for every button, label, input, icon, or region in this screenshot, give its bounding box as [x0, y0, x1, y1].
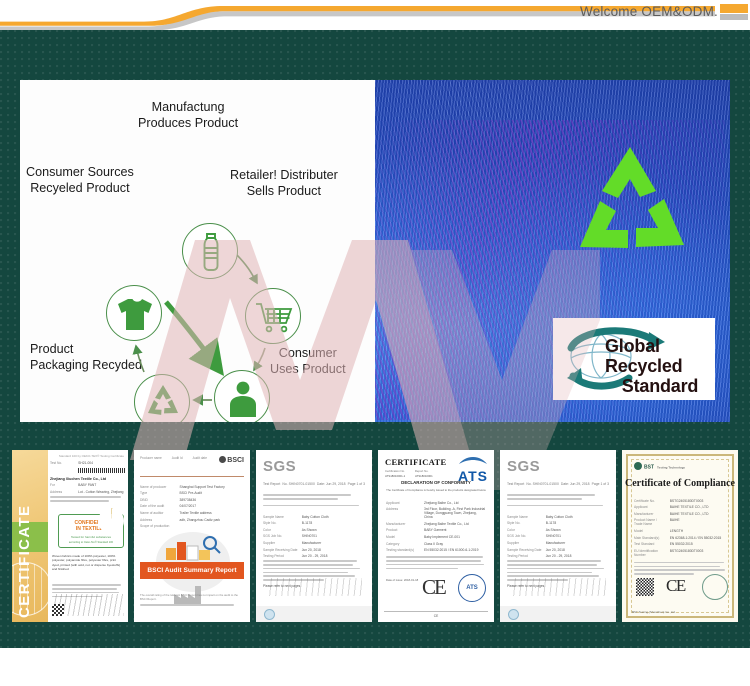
field-value: SH21-004: [78, 461, 124, 465]
ce-mark-icon: CE: [666, 576, 685, 596]
field-value: BSTG2405180DT0003: [670, 499, 728, 503]
field-value: Manufacturer: [302, 541, 365, 545]
field-key: Address: [386, 507, 420, 519]
header-corner-block: [720, 4, 748, 20]
bst-logo-dot: [634, 462, 642, 470]
report-date: Date: Jun 29, 2018: [317, 482, 346, 486]
page-root: Welcome OEM&ODM. Manufactung Produces Pr…: [0, 0, 750, 686]
corner-gray-bar: [720, 14, 748, 20]
sgs-stamp-icon: [508, 609, 519, 620]
field-value: Manufacturer: [546, 541, 609, 545]
sgs-brand-logo: SGS: [263, 458, 296, 475]
report-date: Date: Jun 29, 2018: [561, 482, 590, 486]
bottle-icon: [183, 224, 239, 280]
tshirt-icon: [107, 286, 163, 342]
field-key: Address: [50, 490, 75, 494]
grs-logo: Global Recycled Standard: [553, 318, 715, 400]
field-key: Scope of production: [140, 524, 175, 528]
certificates-row: CERTIFICATE Standard 100 by OEKO-TEX® Te…: [12, 450, 738, 622]
cert-company: Zhejiang Xiuchen Textile Co., Ltd: [50, 477, 124, 481]
sgs-intro: [507, 492, 609, 508]
page-number: Page 1 of 3: [592, 482, 609, 486]
ce-mark-icon: CE: [422, 575, 445, 600]
field-key: DBID: [140, 498, 175, 502]
field-key: EU Identification Number: [634, 549, 666, 557]
field-value: BSTG2405180DT0003: [670, 549, 728, 557]
field-value: BABY Garment: [424, 528, 486, 532]
grs-logo-text: Global Recycled Standard: [605, 336, 715, 396]
field-key: Sample Receiving Date: [507, 548, 542, 552]
bst-brand-text: BST: [644, 465, 654, 471]
bsci-brand-text: BSCI: [227, 457, 244, 464]
field-key: Manufacturer: [386, 522, 420, 526]
report-number: No. SHIN0701-01500: [526, 482, 558, 486]
bsci-banner: BSCI Audit Summary Report: [140, 562, 244, 579]
field-value: Baby Cotton Cloth: [546, 515, 609, 519]
sgs-intro: [263, 492, 365, 508]
footer-text: The overall rating of the relevant BSCI …: [140, 593, 244, 601]
field-key: Model: [386, 535, 420, 539]
field-value: BABY PANT: [78, 483, 124, 487]
field-key: Sample Receiving Date: [263, 548, 298, 552]
field-value: [180, 524, 244, 528]
field-key: Date of the audit: [140, 504, 175, 508]
field-value: As Shown: [546, 528, 609, 532]
recycling-cycle-diagram: Manufactung Produces Product Consumer So…: [20, 80, 375, 422]
field-value: Zhejiang Baihe Co., Ltd: [424, 501, 486, 505]
field-value: BAIHE: [670, 518, 728, 526]
field-value: EN 62368-1:2014 / EN 55032:2015: [670, 536, 728, 540]
certificate-sgs-1[interactable]: SGS Test Report No. SHIN0701-01500 Date:…: [256, 450, 372, 622]
field-key: Supplier: [507, 541, 542, 545]
sunburst-decoration-icon: [98, 508, 124, 534]
signature-block: [510, 578, 606, 596]
certificate-ats[interactable]: CERTIFICATE Certification No.Report No. …: [378, 450, 494, 622]
field-key: Model: [634, 529, 666, 533]
certificate-oeko-tex[interactable]: CERTIFICATE Standard 100 by OEKO-TEX® Te…: [12, 450, 128, 622]
field-value: Jun 20, 2018: [546, 548, 609, 552]
sgs-fields: Sample NameBaby Cotton Cloth Style No.B-…: [507, 512, 609, 561]
field-value: BSCI Pre-Audit: [180, 491, 244, 495]
doc-type: Test Report: [263, 482, 280, 486]
field-value: Baby Cotton Cloth: [302, 515, 365, 519]
cert-body: Standard 100 by OEKO-TEX® Testing Certif…: [50, 454, 124, 504]
node-cart: [245, 288, 301, 344]
audit-illustration-icon: [164, 534, 222, 564]
certificate-bst-compliance[interactable]: BST Testing Technology Certificate of Co…: [622, 450, 738, 622]
node-person: [214, 370, 270, 422]
field-key: Style No.: [507, 521, 542, 525]
sgs-report-meta: Test Report No. SHIN0701-01500 Date: Jun…: [507, 482, 609, 486]
field-value: 04/07/2017: [180, 504, 244, 508]
recycle-icon: [135, 375, 191, 422]
ats-subtitle: The Certificate of Compliance is hereby …: [386, 488, 486, 492]
field-key: Applicant: [634, 505, 666, 509]
node-recycle: [134, 374, 190, 422]
field-key: Type: [140, 491, 175, 495]
corner-orange-bar: [720, 4, 748, 13]
doc-type: Test Report: [507, 482, 524, 486]
fabric-photo-panel: Global Recycled Standard: [375, 80, 730, 422]
recycle-symbol-icon: [560, 135, 700, 275]
field-key: Name of producer: [140, 485, 175, 489]
shopping-cart-icon: [246, 289, 302, 345]
field-value: EN 55032:2015: [670, 542, 728, 546]
field-key: Supplier: [263, 541, 298, 545]
page-header: Welcome OEM&ODM.: [0, 0, 750, 30]
cert-fields: Name of producerShanghai Support Test Fa…: [140, 482, 244, 531]
signature-block: [266, 578, 362, 596]
node-bottle: [182, 223, 238, 279]
field-value: As Shown: [302, 528, 365, 532]
certificate-sgs-2[interactable]: SGS Test Report No. SHIN0701-01500 Date:…: [500, 450, 616, 622]
field-value: Baby Implement CE-001: [424, 535, 486, 539]
node-tshirt: [106, 285, 162, 341]
ats-seal-icon: ATS: [458, 574, 486, 602]
bst-footer: BST Testing (Shenzhen) Co.,Ltd.: [632, 610, 728, 614]
field-value: EN 55032:2015 / EN 61000-6-1:2019: [424, 548, 486, 552]
field-key: Applicant: [386, 501, 420, 505]
field-key: Style No.: [263, 521, 298, 525]
field-value: Zhejiang Baihe Textile Co., Ltd: [424, 522, 486, 526]
sgs-report-meta: Test Report No. SHIN0701-01500 Date: Jun…: [263, 482, 365, 486]
field-key: SGS Job No.: [263, 534, 298, 538]
field-key: SGS Job No.: [507, 534, 542, 538]
field-value: B-1178: [302, 521, 365, 525]
qr-code-icon: [52, 604, 64, 616]
cert-footer: The overall rating of the relevant BSCI …: [140, 593, 244, 608]
report-number: No. SHIN0701-01500: [282, 482, 314, 486]
field-value: Shanghai Support Test Factory: [180, 485, 244, 489]
field-key: Product: [386, 528, 420, 532]
field-key: Main Standard(s): [634, 536, 666, 540]
field-value: 389738436: [180, 498, 244, 502]
sgs-fields: Sample NameBaby Cotton Cloth Style No.B-…: [263, 512, 365, 561]
cert-rule: [140, 476, 244, 477]
field-key: Sample Name: [507, 515, 542, 519]
logo-line-4: according to Oeko-Tex® Standard 100: [59, 540, 123, 546]
field-key: Testing standard(s): [386, 548, 420, 552]
cert-body-note: Woven fabrics made of 100% polyester, 10…: [52, 554, 123, 572]
field-key: Color: [507, 528, 542, 532]
hero-panel: Manufactung Produces Product Consumer So…: [20, 80, 730, 422]
field-value: SHIN0701: [546, 534, 609, 538]
field-value: B-1178: [546, 521, 609, 525]
field-key: Address: [140, 518, 175, 522]
field-key: Sample Name: [263, 515, 298, 519]
person-icon: [215, 371, 271, 422]
certificate-bsci[interactable]: Producer nameAudit IdAudit date BSCI Nam…: [134, 450, 250, 622]
sgs-brand-logo: SGS: [507, 458, 540, 475]
page-number: Page 1 of 3: [348, 482, 365, 486]
field-value: BAIHE TEXTILE CO., LTD: [670, 505, 728, 509]
ats-title: CERTIFICATE: [385, 457, 446, 467]
sgs-stamp-icon: [264, 609, 275, 620]
field-value: adb, Zhangzhou Cadiz park: [180, 518, 244, 522]
field-key: Test No.: [50, 461, 75, 465]
ats-bird-icon: [458, 456, 488, 467]
field-value: BAIHE TEXTILE CO., LTD: [670, 512, 728, 516]
field-value: Jun 20, 2018: [302, 548, 365, 552]
welcome-text: Welcome OEM&ODM.: [580, 4, 718, 19]
bst-fields: Certificate No.BSTG2405180DT0003 Applica…: [634, 496, 728, 577]
bst-title: Certificate of Compliance: [622, 478, 738, 489]
ats-fields: ApplicantZhejiang Baihe Co., Ltd Address…: [386, 498, 486, 555]
bst-brand-logo: BST Testing Technology: [634, 462, 685, 471]
bsci-brand-logo: BSCI: [219, 456, 244, 464]
ats-doc-type: DECLARATION OF CONFORMITY: [386, 480, 486, 485]
qr-code-icon: [636, 578, 654, 596]
field-value: 3rd Floor, Building -A, First Park Indus…: [424, 507, 486, 519]
field-value: LENGTH: [670, 529, 728, 533]
field-value: Lot - Cotton Weaving, Zhejiang: [78, 490, 124, 494]
field-key: Color: [263, 528, 298, 532]
field-key: Name of auditor: [140, 511, 175, 515]
field-key: Certificate No.: [634, 499, 666, 503]
field-key: Product Name / Trade Name: [634, 518, 666, 526]
field-key: Manufacturer: [634, 512, 666, 516]
field-key: For: [50, 483, 75, 487]
bst-seal-icon: [702, 574, 728, 600]
cert-side-label: CERTIFICATE: [16, 454, 33, 618]
field-key: Category: [386, 542, 420, 546]
ats-footer: CE: [384, 611, 488, 618]
bsci-logo-dot: [219, 456, 226, 463]
field-key: Test Standard: [634, 542, 666, 546]
field-value: SHIN0701: [302, 534, 365, 538]
ats-issue-date: Date of issue: 2018-01-18: [386, 578, 418, 582]
field-value: Class II Gray: [424, 542, 486, 546]
field-value: Trailer Textile address: [180, 511, 244, 515]
